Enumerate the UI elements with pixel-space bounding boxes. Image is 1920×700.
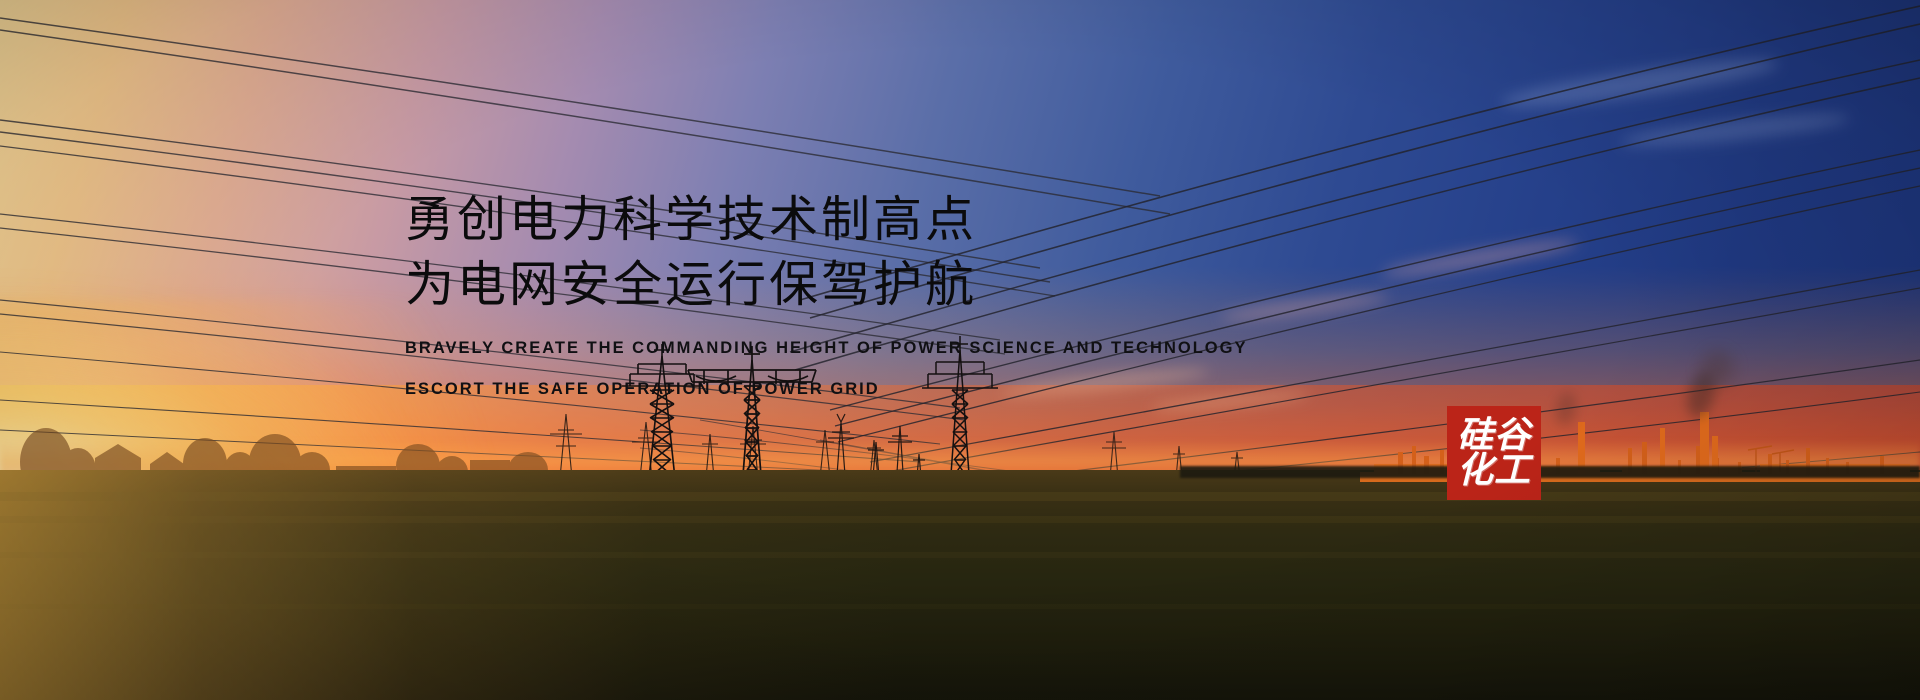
headline-line-2: 为电网安全运行保驾护航 (405, 253, 1247, 318)
far-treeline-strip (1180, 466, 1920, 478)
logo-text-line-2: 化工 (1457, 453, 1531, 488)
hero-banner: 勇创电力科学技术制高点 为电网安全运行保驾护航 BRAVELY CREATE T… (0, 0, 1920, 700)
headline-line-1: 勇创电力科学技术制高点 (405, 188, 1247, 253)
subtitle-line-1: BRAVELY CREATE THE COMMANDING HEIGHT OF … (405, 340, 1247, 357)
field-stripe-2 (0, 516, 1920, 523)
field-sunlit-area (0, 470, 900, 700)
company-logo-stamp[interactable]: 硅谷 化工 (1447, 406, 1541, 500)
banner-copy: 勇创电力科学技术制高点 为电网安全运行保驾护航 BRAVELY CREATE T… (405, 188, 1247, 397)
logo-text-line-1: 硅谷 (1457, 418, 1531, 453)
field-stripe-3 (0, 552, 1920, 558)
field-stripe-4 (0, 604, 1920, 609)
field-stripe-1 (0, 492, 1920, 501)
subtitle-line-2: ESCORT THE SAFE OPERATION OF POWER GRID (405, 381, 1247, 398)
